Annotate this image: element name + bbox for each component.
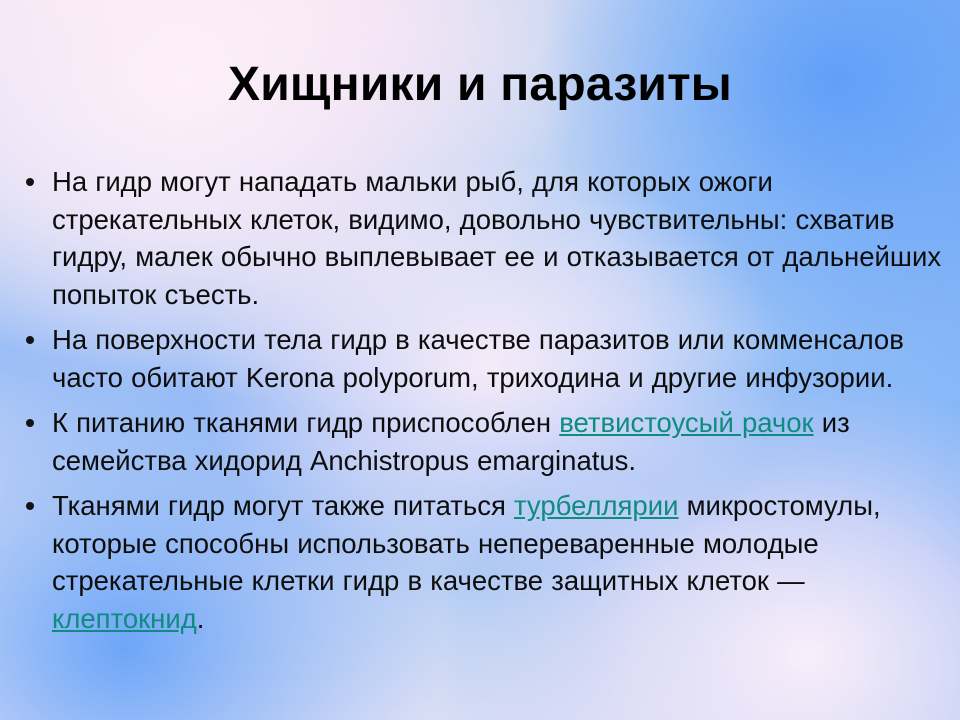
bullet-text: К питанию тканями гидр приспособлен (52, 407, 559, 438)
slide-title: Хищники и паразиты (0, 58, 960, 112)
bullet-point-icon (26, 502, 34, 510)
bullet-point-icon (26, 419, 34, 427)
bullet-text: Тканями гидр могут также питаться (52, 490, 514, 521)
bullet-point-icon (26, 178, 34, 186)
bullet-point-icon (26, 336, 34, 344)
bullet-list: На гидр могут нападать мальки рыб, для к… (14, 163, 952, 637)
bullet-item: К питанию тканями гидр приспособлен ветв… (14, 404, 952, 479)
hyperlink[interactable]: клептокнид (52, 603, 197, 634)
bullet-item: На гидр могут нападать мальки рыб, для к… (14, 163, 952, 313)
bullet-text: На гидр могут нападать мальки рыб, для к… (52, 166, 941, 310)
slide-content: Хищники и паразиты На гидр могут нападат… (0, 0, 960, 720)
hyperlink[interactable]: ветвистоусый рачок (559, 407, 813, 438)
bullet-item: Тканями гидр могут также питаться турбел… (14, 487, 952, 637)
bullet-text: . (197, 603, 205, 634)
bullet-text: На поверхности тела гидр в качестве пара… (52, 324, 904, 393)
bullet-item: На поверхности тела гидр в качестве пара… (14, 321, 952, 396)
presentation-slide: Хищники и паразиты На гидр могут нападат… (0, 0, 960, 720)
hyperlink[interactable]: турбеллярии (514, 490, 678, 521)
